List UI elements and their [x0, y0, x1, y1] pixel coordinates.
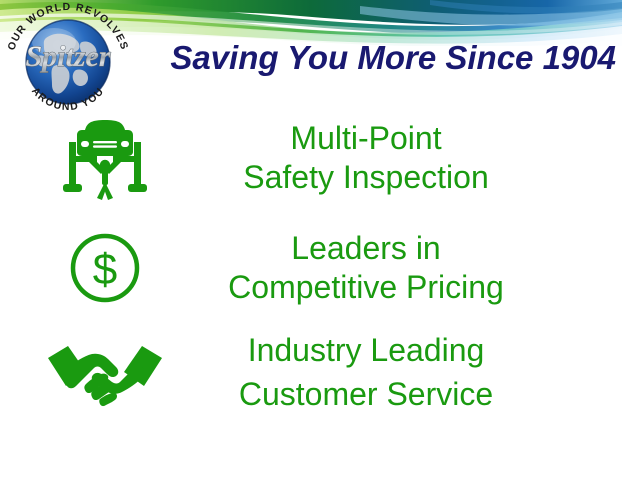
feature-row: $ Leaders in Competitive Pricing	[0, 222, 622, 314]
spitzer-logo[interactable]: OUR WORLD REVOLVES AROUND YOU Spitzer	[2, 0, 134, 116]
dollar-circle-icon: $	[0, 230, 210, 306]
svg-text:$: $	[93, 245, 117, 294]
feature-line-2: Competitive Pricing	[210, 268, 522, 307]
handshake-icon	[0, 336, 210, 408]
spitzer-logo-graphic: OUR WORLD REVOLVES AROUND YOU Spitzer	[2, 0, 134, 116]
feature-text: Industry Leading Customer Service	[210, 328, 622, 416]
page-title: Saving You More Since 1904	[140, 38, 616, 78]
feature-line-2: Customer Service	[210, 372, 522, 416]
feature-line-2: Safety Inspection	[210, 158, 522, 197]
feature-row: Industry Leading Customer Service	[0, 326, 622, 418]
feature-row: Multi-Point Safety Inspection	[0, 108, 622, 208]
feature-text: Multi-Point Safety Inspection	[210, 119, 622, 197]
feature-line-1: Multi-Point	[210, 119, 522, 158]
logo-wordmark: Spitzer	[25, 40, 110, 73]
svg-text:Spitzer: Spitzer	[25, 40, 110, 73]
feature-line-1: Leaders in	[210, 229, 522, 268]
feature-text: Leaders in Competitive Pricing	[210, 229, 622, 307]
feature-line-1: Industry Leading	[210, 328, 522, 372]
car-lift-icon	[0, 112, 210, 204]
